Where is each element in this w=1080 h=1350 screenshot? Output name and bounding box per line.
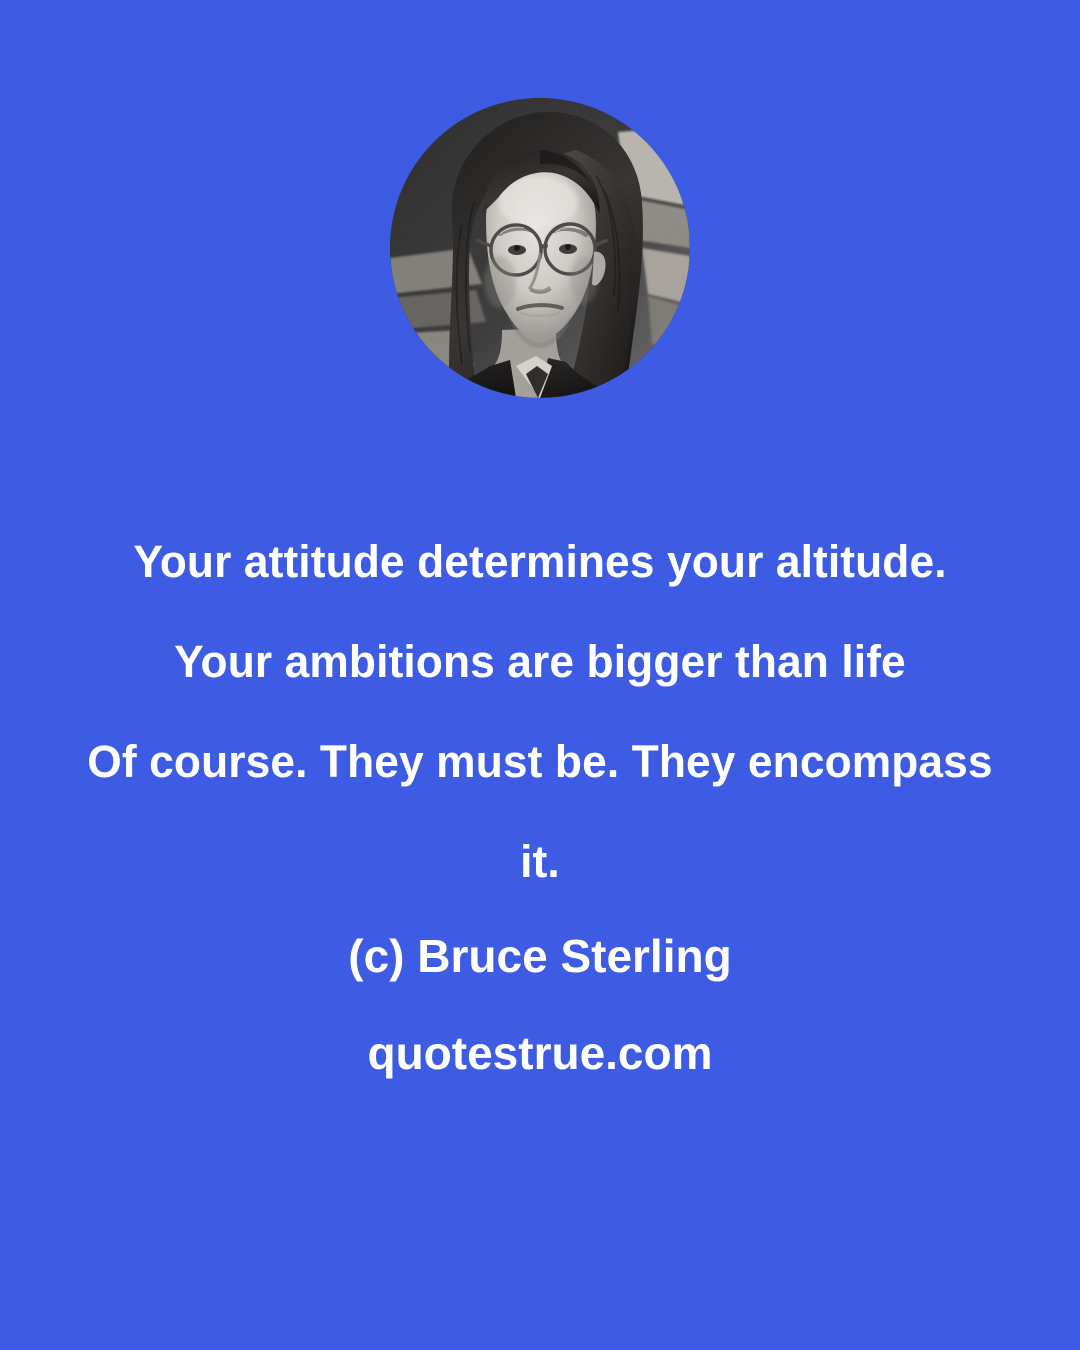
quote-card: Your attitude determines your altitude. … (0, 0, 1080, 1350)
author-portrait-photo (390, 98, 690, 398)
quote-attribution: (c) Bruce Sterling (0, 925, 1080, 987)
quote-line-3: Of course. They must be. They encompass (8, 712, 1072, 812)
author-portrait-container (390, 98, 690, 398)
quote-line-1: Your attitude determines your altitude. (8, 512, 1072, 612)
source-website-label: quotestrue.com (0, 1022, 1080, 1084)
quote-text-block: Your attitude determines your altitude. … (0, 512, 1080, 912)
quote-line-2: Your ambitions are bigger than life (8, 612, 1072, 712)
quote-line-4: it. (8, 812, 1072, 912)
